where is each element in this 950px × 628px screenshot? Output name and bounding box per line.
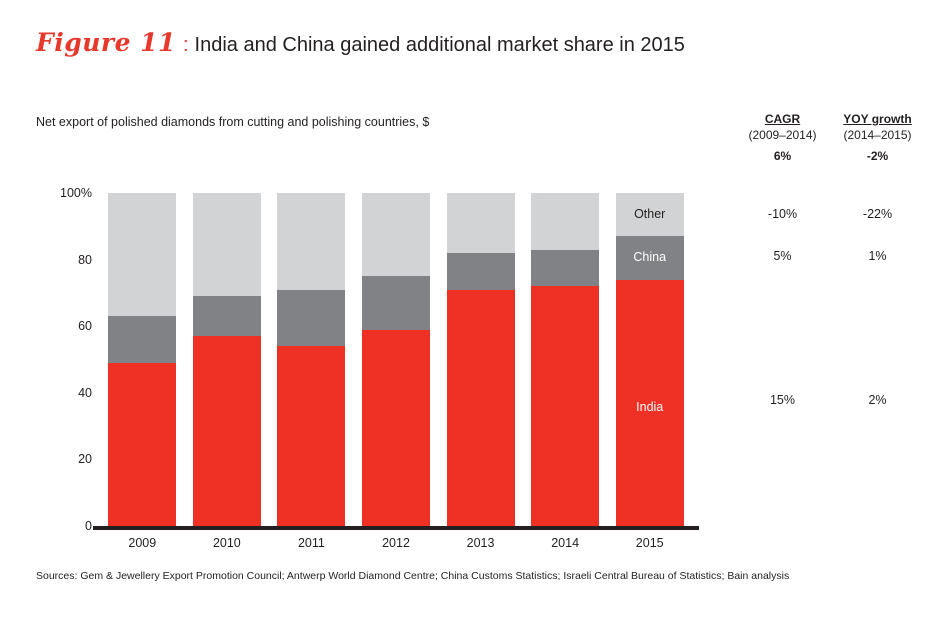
- x-axis-label-2010: 2010: [193, 536, 261, 550]
- bar-segment-china-2013[interactable]: [447, 253, 515, 290]
- bar-segment-china-2011[interactable]: [277, 290, 345, 347]
- title-colon: :: [183, 34, 189, 57]
- other-cagr-value: -10%: [735, 207, 830, 221]
- title-text: India and China gained additional market…: [195, 34, 685, 57]
- series-label-china: China: [616, 250, 684, 264]
- bar-group-2009[interactable]: [108, 193, 176, 526]
- figure-number: Figure 11: [36, 28, 176, 57]
- bar-segment-other-2009[interactable]: [108, 193, 176, 316]
- bar-segment-other-2014[interactable]: [531, 193, 599, 250]
- china-yoy-value: 1%: [830, 249, 925, 263]
- series-label-india: India: [616, 400, 684, 414]
- x-axis-label-2009: 2009: [108, 536, 176, 550]
- y-axis: 020406080100%: [28, 193, 92, 526]
- bar-segment-india-2014[interactable]: [531, 286, 599, 526]
- bar-segment-india-2011[interactable]: [277, 346, 345, 526]
- cagr-column-total: 6%: [735, 149, 830, 163]
- bar-segment-other-2013[interactable]: [447, 193, 515, 253]
- y-axis-label-100: 100%: [60, 186, 92, 200]
- chart-plot-area: IndiaChinaOther: [100, 193, 692, 526]
- yoy-column-title: YOY growth: [830, 112, 925, 126]
- bar-segment-other-2011[interactable]: [277, 193, 345, 290]
- stats-row-india: 15% 2%: [735, 393, 925, 407]
- bar-segment-china-2012[interactable]: [362, 276, 430, 329]
- y-axis-label-60: 60: [78, 319, 92, 333]
- bar-group-2011[interactable]: [277, 193, 345, 526]
- x-axis-label-2013: 2013: [447, 536, 515, 550]
- other-yoy-value: -22%: [830, 207, 925, 221]
- china-cagr-value: 5%: [735, 249, 830, 263]
- page-title: Figure 11 : India and China gained addit…: [36, 28, 685, 57]
- x-axis-label-2011: 2011: [277, 536, 345, 550]
- stats-row-china: 5% 1%: [735, 249, 925, 263]
- bar-group-2015[interactable]: IndiaChinaOther: [616, 193, 684, 526]
- bar-segment-china-2010[interactable]: [193, 296, 261, 336]
- bar-segment-india-2010[interactable]: [193, 336, 261, 526]
- bar-segment-india-2013[interactable]: [447, 290, 515, 526]
- bar-segment-china-2014[interactable]: [531, 250, 599, 287]
- bar-group-2010[interactable]: [193, 193, 261, 526]
- india-cagr-value: 15%: [735, 393, 830, 407]
- sources-note: Sources: Gem & Jewellery Export Promotio…: [36, 570, 789, 582]
- bar-group-2014[interactable]: [531, 193, 599, 526]
- bar-group-2013[interactable]: [447, 193, 515, 526]
- y-axis-label-40: 40: [78, 386, 92, 400]
- bar-group-2012[interactable]: [362, 193, 430, 526]
- bar-segment-other-2015[interactable]: Other: [616, 193, 684, 236]
- yoy-column-period: (2014–2015): [830, 128, 925, 142]
- series-label-other: Other: [616, 207, 684, 221]
- bar-segment-other-2010[interactable]: [193, 193, 261, 296]
- bar-segment-china-2009[interactable]: [108, 316, 176, 363]
- y-axis-label-20: 20: [78, 452, 92, 466]
- y-axis-label-0: 0: [85, 519, 92, 533]
- bar-segment-other-2012[interactable]: [362, 193, 430, 276]
- x-axis-label-2014: 2014: [531, 536, 599, 550]
- bar-segment-india-2009[interactable]: [108, 363, 176, 526]
- y-axis-label-80: 80: [78, 253, 92, 267]
- bar-segment-india-2012[interactable]: [362, 330, 430, 526]
- yoy-column-total: -2%: [830, 149, 925, 163]
- cagr-column-title: CAGR: [735, 112, 830, 126]
- bar-segment-china-2015[interactable]: China: [616, 236, 684, 279]
- stats-column-yoy: YOY growth (2014–2015) -2%: [830, 112, 925, 163]
- chart-subtitle: Net export of polished diamonds from cut…: [36, 115, 429, 129]
- cagr-column-period: (2009–2014): [735, 128, 830, 142]
- stats-row-other: -10% -22%: [735, 207, 925, 221]
- x-axis-label-2015: 2015: [616, 536, 684, 550]
- x-axis-line: [93, 526, 699, 530]
- stats-column-cagr: CAGR (2009–2014) 6%: [735, 112, 830, 163]
- bar-segment-india-2015[interactable]: India: [616, 280, 684, 526]
- stats-header: CAGR (2009–2014) 6% YOY growth (2014–201…: [735, 112, 925, 163]
- x-axis-label-2012: 2012: [362, 536, 430, 550]
- india-yoy-value: 2%: [830, 393, 925, 407]
